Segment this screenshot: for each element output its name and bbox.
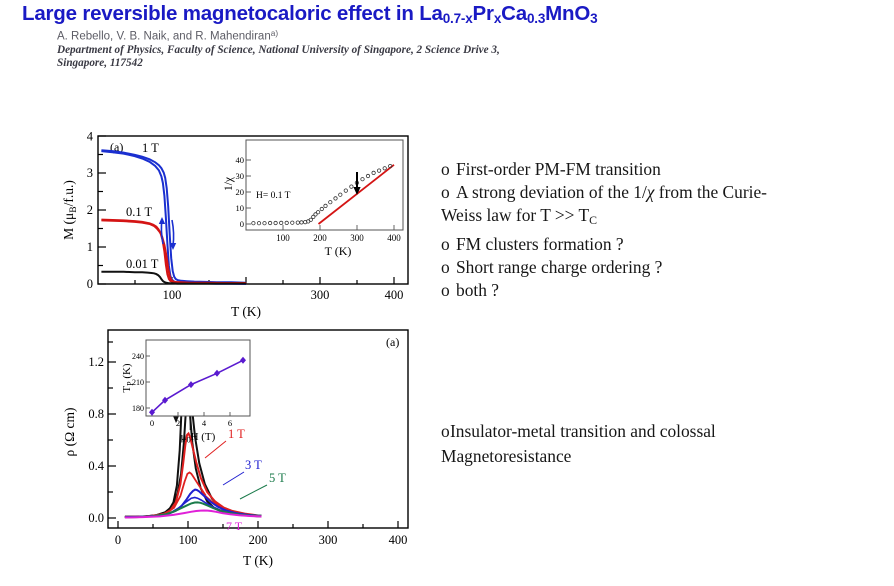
svg-text:100: 100: [276, 233, 290, 243]
x-axis-label: T (K): [243, 553, 273, 568]
svg-text:6: 6: [228, 418, 232, 428]
svg-text:0: 0: [87, 277, 93, 291]
bullet-list-bottom: oInsulator-metal transition and colossal…: [441, 419, 886, 469]
svg-text:3: 3: [87, 166, 93, 180]
svg-text:300: 300: [319, 533, 338, 547]
affiliation: Department of Physics, Faculty of Scienc…: [57, 44, 697, 69]
svg-text:180: 180: [132, 404, 144, 413]
svg-text:10: 10: [236, 203, 245, 213]
affiliation-line-2: Singapore, 117542: [57, 57, 143, 69]
svg-text:0.8: 0.8: [88, 407, 104, 421]
affiliation-line-1: Department of Physics, Faculty of Scienc…: [57, 44, 500, 56]
bullet-item-3: oFM clusters formation ?: [441, 233, 886, 256]
author-list: A. Rebello, V. B. Naik, and R. Mahendira…: [57, 29, 278, 43]
bullet-marker-icon: o: [441, 419, 450, 444]
svg-text:1.2: 1.2: [88, 355, 104, 369]
svg-text:200: 200: [313, 233, 327, 243]
inset-x-axis-label: T (K): [325, 244, 352, 258]
inset-x-axis-label: μ0H (T): [181, 431, 216, 445]
bullet-item-6-continuation: Magnetoresistance: [441, 444, 886, 469]
magnetization-chart: 01 234 100300400 T (K) M (μB/f.u.) (a): [60, 128, 432, 320]
svg-text:0: 0: [150, 418, 154, 428]
svg-text:400: 400: [387, 233, 401, 243]
bullet-item-6: oInsulator-metal transition and colossal: [441, 419, 886, 444]
magnetization-svg: 01 234 100300400 T (K) M (μB/f.u.) (a): [60, 128, 432, 320]
bullet-text: Short range charge ordering ?: [456, 257, 662, 277]
bullet-text: Magnetoresistance: [441, 446, 571, 466]
svg-text:20: 20: [236, 187, 245, 197]
bullet-text: FM clusters formation ?: [456, 234, 624, 254]
resistivity-chart: 0.00.4 0.81.2 0100200 300400 T (K) ρ (Ω …: [60, 322, 432, 584]
slide-root: Large reversible magnetocaloric effect i…: [0, 0, 894, 586]
bullet-text: Insulator-metal transition and colossal: [450, 421, 716, 441]
bullet-item-2: oA strong deviation of the 1/χ from the …: [441, 181, 886, 204]
resistivity-svg: 0.00.4 0.81.2 0100200 300400 T (K) ρ (Ω …: [60, 322, 432, 584]
bullet-list-top: oFirst-order PM-FM transition oA strong …: [441, 158, 886, 302]
y-axis-label: ρ (Ω cm): [62, 407, 77, 456]
bullet-marker-icon: o: [441, 233, 456, 256]
inset-frame: [146, 340, 250, 416]
bullet-text: First-order PM-FM transition: [456, 159, 661, 179]
page-title: Large reversible magnetocaloric effect i…: [22, 2, 882, 26]
bullet-text: both ?: [456, 280, 499, 300]
bullet-item-5: oboth ?: [441, 279, 886, 302]
y-axis-tick-labels: 01 234: [87, 130, 94, 292]
svg-text:200: 200: [249, 533, 268, 547]
svg-text:240: 240: [132, 352, 144, 361]
svg-text:300: 300: [311, 288, 330, 302]
svg-text:0.4: 0.4: [88, 459, 104, 473]
svg-text:100: 100: [179, 533, 198, 547]
svg-text:2: 2: [176, 418, 180, 428]
annotation-0p01T: 0.01 T: [126, 257, 159, 271]
y-axis-label: M (μB/f.u.): [61, 180, 79, 240]
svg-text:0: 0: [240, 219, 244, 229]
author-names: A. Rebello, V. B. Naik, and R. Mahendira…: [57, 31, 271, 43]
annotation-1T: 1 T: [228, 427, 245, 441]
bullet-text: Weiss law for T >> TC: [441, 205, 597, 225]
title-formula: La0.7-xPrxCa0.3MnO3: [419, 2, 597, 25]
bullet-text: A strong deviation of the 1/χ from the C…: [456, 182, 767, 202]
svg-text:4: 4: [87, 130, 94, 144]
svg-text:400: 400: [385, 288, 404, 302]
bullet-item-4: oShort range charge ordering ?: [441, 256, 886, 279]
svg-text:1: 1: [87, 240, 93, 254]
y-axis-tick-labels: 0.00.4 0.81.2: [88, 355, 104, 525]
annotation-1T: 1 T: [142, 141, 159, 155]
panel-label: (a): [386, 335, 399, 349]
annotation-7T: 7 T: [226, 519, 243, 533]
annotation-0p1T: 0.1 T: [126, 205, 153, 219]
bullet-marker-icon: o: [441, 279, 456, 302]
bullet-item-1: oFirst-order PM-FM transition: [441, 158, 886, 181]
inset-frame: [246, 140, 403, 230]
svg-text:30: 30: [236, 171, 245, 181]
inset-y-axis-label: 1/χ: [223, 176, 235, 191]
author-footnote-marker: a): [271, 29, 278, 38]
x-axis-label: T (K): [231, 304, 261, 319]
annotation-5T: 5 T: [269, 471, 286, 485]
svg-text:2: 2: [87, 203, 93, 217]
svg-text:40: 40: [236, 155, 245, 165]
svg-text:300: 300: [350, 233, 364, 243]
annotation-3T: 3 T: [245, 458, 262, 472]
inset-field-annotation: H= 0.1 T: [256, 191, 291, 201]
svg-text:0.0: 0.0: [88, 511, 104, 525]
bullet-marker-icon: o: [441, 181, 456, 204]
bullet-marker-icon: o: [441, 256, 456, 279]
chi-symbol: χ: [647, 182, 655, 202]
svg-text:100: 100: [163, 288, 182, 302]
x-axis-tick-labels: 100300400: [163, 288, 404, 302]
bullet-item-2-continuation: Weiss law for T >> TC: [441, 204, 886, 232]
svg-text:0: 0: [115, 533, 121, 547]
subscript-c: C: [589, 213, 597, 227]
svg-text:400: 400: [389, 533, 408, 547]
bullet-marker-icon: o: [441, 158, 456, 181]
title-text-part: Large reversible magnetocaloric effect i…: [22, 2, 419, 25]
inset-y-axis-label: TP (K): [121, 363, 135, 393]
x-axis-tick-labels: 0100200 300400: [115, 533, 408, 547]
